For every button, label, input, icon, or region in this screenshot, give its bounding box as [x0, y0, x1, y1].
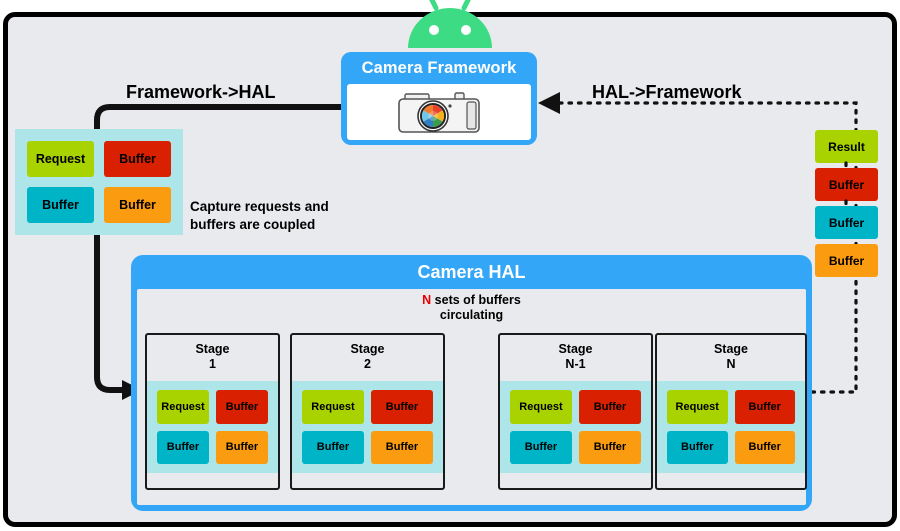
chip-buffer-cyan: Buffer: [302, 431, 364, 465]
hal-note: N sets of buffers circulating: [137, 293, 806, 323]
hal-note-n: N: [422, 293, 431, 307]
chip-request: Request: [157, 390, 209, 424]
stage-buffer-set-n-minus-1: Request Buffer Buffer Buffer: [500, 381, 651, 473]
stage-index: N: [657, 357, 805, 372]
chip-buffer-red: Buffer: [371, 390, 433, 424]
camera-framework-title: Camera Framework: [341, 52, 537, 80]
stage-title-n-minus-1: Stage N-1: [500, 335, 651, 372]
stage-index: 1: [147, 357, 278, 372]
camera-framework-body: [347, 84, 531, 140]
stage-title-2: Stage 2: [292, 335, 443, 372]
chip-request: Request: [302, 390, 364, 424]
stage-box-1[interactable]: Stage 1 Request Buffer Buffer Buffer: [145, 333, 280, 490]
stage-buffer-set-n: Request Buffer Buffer Buffer: [657, 381, 805, 473]
chip-request: Request: [27, 141, 94, 177]
diagram-canvas: Framework->HAL HAL->Framework Camera Fra…: [0, 0, 900, 531]
chip-result: Result: [815, 130, 878, 163]
camera-hal-body: N sets of buffers circulating Stage 1 Re…: [137, 289, 806, 505]
chip-buffer-orange: Buffer: [371, 431, 433, 465]
chip-buffer-orange: Buffer: [216, 431, 268, 465]
stage-index: N-1: [500, 357, 651, 372]
stage-box-2[interactable]: Stage 2 Request Buffer Buffer Buffer: [290, 333, 445, 490]
chip-buffer-cyan: Buffer: [510, 431, 572, 465]
result-buffer-column: Result Buffer Buffer Buffer: [815, 130, 878, 282]
stage-title-1: Stage 1: [147, 335, 278, 372]
coupled-request-buffer-group: Request Buffer Buffer Buffer: [15, 129, 183, 235]
chip-buffer-red: Buffer: [216, 390, 268, 424]
chip-buffer-cyan: Buffer: [27, 187, 94, 223]
chip-buffer-orange: Buffer: [579, 431, 641, 465]
camera-icon: [393, 86, 485, 138]
stage-label: Stage: [500, 342, 651, 357]
coupled-group-caption: Capture requests and buffers are coupled: [190, 198, 329, 234]
chip-buffer-red: Buffer: [815, 168, 878, 201]
camera-hal-title: Camera HAL: [131, 255, 812, 287]
chip-request: Request: [510, 390, 572, 424]
chip-buffer-red: Buffer: [104, 141, 171, 177]
chip-request: Request: [667, 390, 728, 424]
android-robot-icon: [404, 0, 496, 52]
chip-buffer-orange: Buffer: [815, 244, 878, 277]
camera-hal-box[interactable]: Camera HAL N sets of buffers circulating…: [131, 255, 812, 511]
stage-box-n-minus-1[interactable]: Stage N-1 Request Buffer Buffer Buffer: [498, 333, 653, 490]
hal-note-line1: sets of buffers: [431, 293, 521, 307]
arrow-label-framework-to-hal: Framework->HAL: [126, 82, 276, 103]
stage-label: Stage: [657, 342, 805, 357]
stage-box-n[interactable]: Stage N Request Buffer Buffer Buffer: [655, 333, 807, 490]
stage-buffer-set-2: Request Buffer Buffer Buffer: [292, 381, 443, 473]
chip-buffer-orange: Buffer: [735, 431, 796, 465]
stage-index: 2: [292, 357, 443, 372]
camera-framework-box[interactable]: Camera Framework: [341, 52, 537, 145]
coupled-caption-line1: Capture requests and: [190, 198, 329, 216]
chip-buffer-cyan: Buffer: [815, 206, 878, 239]
stage-title-n: Stage N: [657, 335, 805, 372]
coupled-caption-line2: buffers are coupled: [190, 216, 329, 234]
chip-buffer-cyan: Buffer: [667, 431, 728, 465]
chip-buffer-orange: Buffer: [104, 187, 171, 223]
hal-note-line2: circulating: [137, 308, 806, 323]
stage-label: Stage: [292, 342, 443, 357]
stage-buffer-set-1: Request Buffer Buffer Buffer: [147, 381, 278, 473]
chip-buffer-red: Buffer: [735, 390, 796, 424]
chip-buffer-red: Buffer: [579, 390, 641, 424]
stage-label: Stage: [147, 342, 278, 357]
chip-buffer-cyan: Buffer: [157, 431, 209, 465]
arrow-label-hal-to-framework: HAL->Framework: [592, 82, 742, 103]
